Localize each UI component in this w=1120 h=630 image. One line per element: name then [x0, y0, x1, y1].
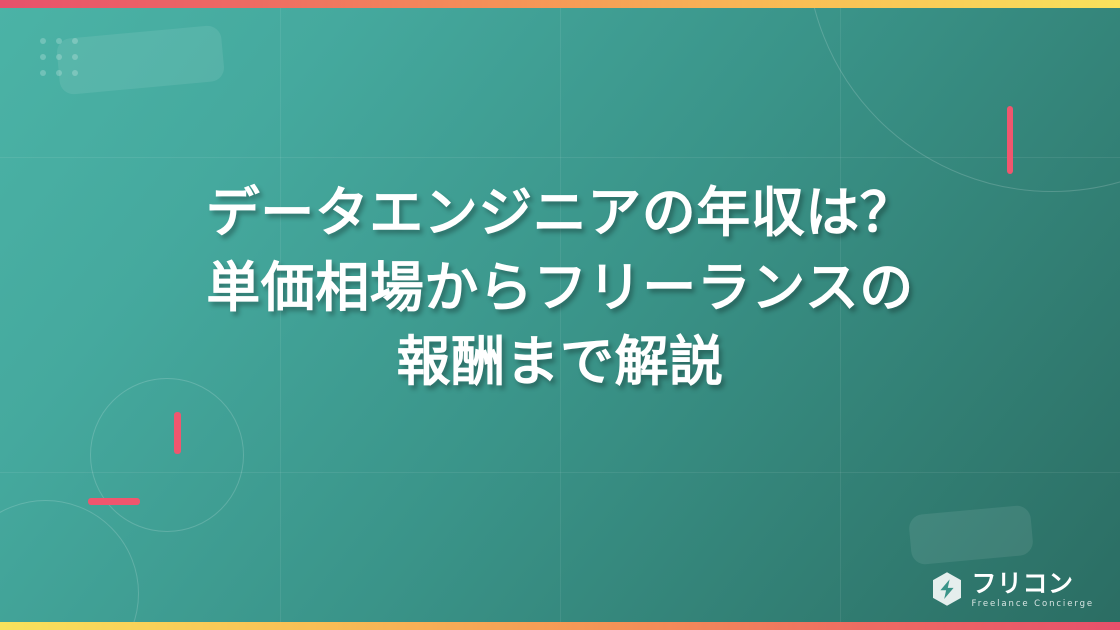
bottom-gradient-bar: [0, 622, 1120, 630]
grid-dot: [72, 70, 78, 76]
grid-dot: [56, 54, 62, 60]
logo-text-block: フリコン Freelance Concierge: [972, 571, 1094, 609]
ring-top-right-large: [806, 0, 1120, 192]
rounded-panel-bottom-right: [908, 505, 1034, 566]
grid-dot: [40, 54, 46, 60]
rounded-panel-top-left: [56, 25, 225, 96]
top-gradient-bar: [0, 0, 1120, 8]
ring-bottom-left-large: [0, 500, 139, 630]
ring-bottom-left-small: [90, 378, 244, 532]
grid-line-horizontal: [0, 472, 1120, 473]
title-line-2: 単価相場からフリーランスの: [40, 251, 1080, 326]
red-bar-vertical-bottom-left: [174, 412, 181, 454]
grid-line-horizontal: [0, 157, 1120, 158]
grid-dot: [40, 70, 46, 76]
page-title: データエンジニアの年収は？ 単価相場からフリーランスの 報酬まで解説: [0, 176, 1120, 400]
grid-dot: [72, 54, 78, 60]
hexagon-bolt-icon: [931, 571, 963, 607]
title-line-3: 報酬まで解説: [40, 325, 1080, 400]
red-bar-horizontal-bottom-left: [88, 498, 140, 505]
grid-dot: [56, 38, 62, 44]
banner-canvas: データエンジニアの年収は？ 単価相場からフリーランスの 報酬まで解説 フリコン …: [0, 0, 1120, 630]
logo-tagline: Freelance Concierge: [972, 600, 1094, 609]
dot-grid-decoration: [40, 38, 88, 86]
grid-dot: [40, 38, 46, 44]
grid-dot: [56, 70, 62, 76]
brand-logo: フリコン Freelance Concierge: [931, 571, 1094, 609]
grid-dot: [72, 38, 78, 44]
red-bar-vertical-top-right: [1007, 106, 1013, 174]
title-line-1: データエンジニアの年収は？: [40, 176, 1080, 251]
logo-name: フリコン: [972, 571, 1094, 596]
